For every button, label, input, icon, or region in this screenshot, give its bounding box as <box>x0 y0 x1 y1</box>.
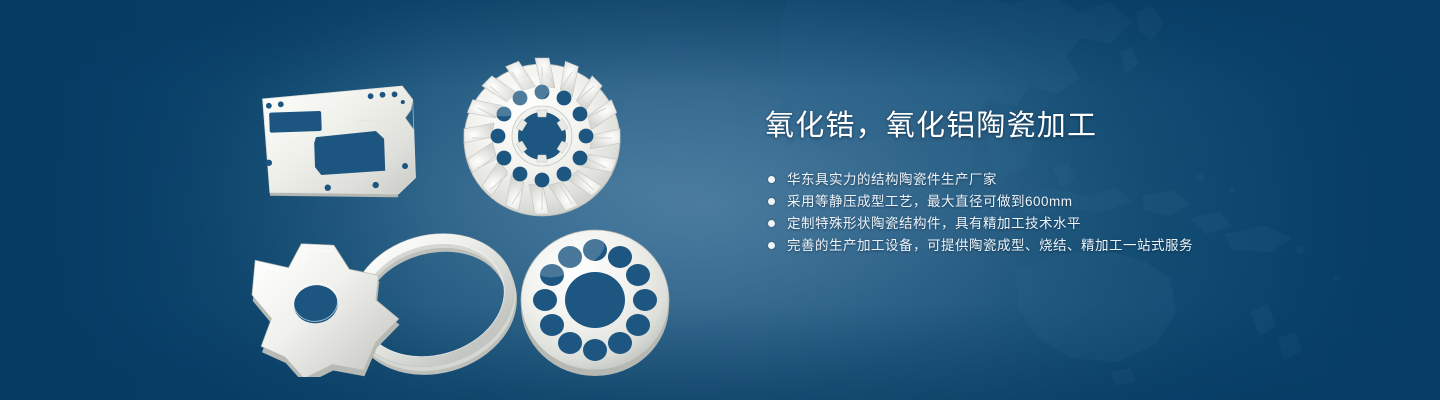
product-photo-cluster <box>0 0 720 400</box>
feature-text: 完善的生产加工设备，可提供陶瓷成型、烧结、精加工一站式服务 <box>787 235 1193 256</box>
feature-text: 定制特殊形状陶瓷结构件，具有精加工技术水平 <box>787 213 1081 234</box>
bullet-dot-icon <box>768 220 775 227</box>
ceramic-impeller-disc <box>452 50 632 222</box>
bullet-dot-icon <box>768 176 775 183</box>
banner-text-column: 氧化锆，氧化铝陶瓷加工 华东具实力的结构陶瓷件生产厂家 采用等静压成型工艺，最大… <box>765 108 1385 257</box>
feature-text: 采用等静压成型工艺，最大直径可做到600mm <box>787 191 1073 212</box>
list-item: 完善的生产加工设备，可提供陶瓷成型、烧结、精加工一站式服务 <box>765 235 1385 256</box>
bullet-dot-icon <box>768 242 775 249</box>
ceramic-perforated-ring-disc <box>512 222 678 382</box>
list-item: 采用等静压成型工艺，最大直径可做到600mm <box>765 191 1385 212</box>
ceramic-cross-plate <box>250 232 415 377</box>
list-item: 定制特殊形状陶瓷结构件，具有精加工技术水平 <box>765 213 1385 234</box>
ceramic-plate-with-cutouts <box>248 62 448 212</box>
list-item: 华东具实力的结构陶瓷件生产厂家 <box>765 169 1385 190</box>
feature-list: 华东具实力的结构陶瓷件生产厂家 采用等静压成型工艺，最大直径可做到600mm 定… <box>765 169 1385 256</box>
hero-banner: 氧化锆，氧化铝陶瓷加工 华东具实力的结构陶瓷件生产厂家 采用等静压成型工艺，最大… <box>0 0 1440 400</box>
bullet-dot-icon <box>768 198 775 205</box>
page-title: 氧化锆，氧化铝陶瓷加工 <box>765 108 1385 144</box>
feature-text: 华东具实力的结构陶瓷件生产厂家 <box>787 169 997 190</box>
